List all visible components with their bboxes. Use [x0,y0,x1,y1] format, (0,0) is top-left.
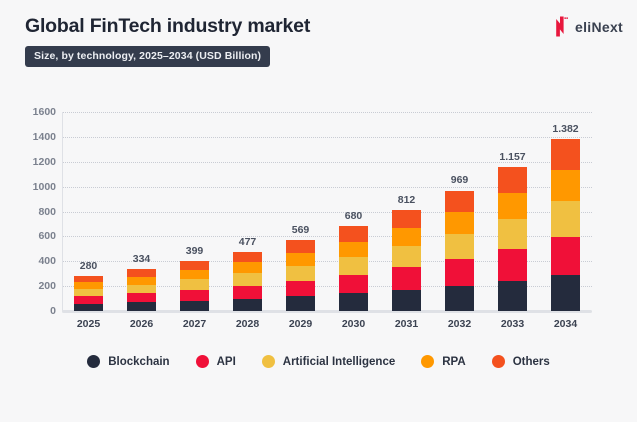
y-axis-tick-label: 1600 [8,106,56,118]
bar-stack[interactable]: 680 [339,226,368,311]
bar-segment[interactable] [551,275,580,311]
y-axis-tick-label: 1000 [8,181,56,193]
bar-segment[interactable] [127,285,156,294]
x-axis-tick-label: 2032 [448,318,471,330]
bar-segment[interactable] [127,293,156,302]
legend-swatch-icon [196,355,209,368]
legend-label: Artificial Intelligence [283,356,395,368]
x-axis-tick-label: 2031 [395,318,418,330]
bar-value-label: 280 [80,260,98,272]
bar-segment[interactable] [180,290,209,301]
legend-item[interactable]: Others [492,355,550,368]
bar-stack[interactable]: 1.157 [498,167,527,311]
y-axis-tick-label: 600 [8,230,56,242]
y-axis-tick-label: 400 [8,255,56,267]
legend-item[interactable]: Blockchain [87,355,169,368]
bar-segment[interactable] [127,269,156,277]
bar-segment[interactable] [180,301,209,311]
bar-value-label: 334 [133,253,151,265]
bar-value-label: 812 [398,194,416,206]
legend-label: Blockchain [108,356,169,368]
bar-segment[interactable] [498,219,527,249]
bar-series-container: 2803343994775696808129691.1571.382 [62,112,592,311]
chart-header: Global FinTech industry market Size, by … [25,14,619,74]
legend-swatch-icon [421,355,434,368]
legend-swatch-icon [492,355,505,368]
legend-item[interactable]: RPA [421,355,465,368]
bar-segment[interactable] [392,228,421,246]
brand-logo: eliNext [554,16,623,37]
bar-value-label: 969 [451,174,469,186]
bar-stack[interactable]: 812 [392,210,421,311]
bar-stack[interactable]: 1.382 [551,139,580,311]
bar-segment[interactable] [551,139,580,170]
x-axis-tick-label: 2033 [501,318,524,330]
bar-segment[interactable] [233,299,262,311]
bar-value-label: 569 [292,224,310,236]
legend-label: API [217,356,236,368]
bar-segment[interactable] [551,237,580,275]
y-axis-tick-label: 800 [8,206,56,218]
bar-segment[interactable] [180,279,209,289]
bar-segment[interactable] [445,234,474,259]
bar-segment[interactable] [498,193,527,219]
bar-stack[interactable]: 969 [445,190,474,311]
bar-segment[interactable] [74,289,103,296]
bar-segment[interactable] [498,281,527,311]
x-axis-tick-label: 2034 [554,318,577,330]
bar-segment[interactable] [286,281,315,297]
bar-segment[interactable] [339,257,368,275]
bar-stack[interactable]: 334 [127,269,156,311]
legend-swatch-icon [87,355,100,368]
bar-segment[interactable] [339,242,368,257]
bar-value-label: 399 [186,245,204,257]
x-axis-labels: 2025202620272028202920302031203220332034 [62,318,592,338]
bar-segment[interactable] [286,240,315,253]
bar-segment[interactable] [392,267,421,289]
chart-legend: BlockchainAPIArtificial IntelligenceRPAO… [0,355,637,368]
page-title: Global FinTech industry market [25,14,619,38]
y-axis-tick-label: 1400 [8,131,56,143]
bar-segment[interactable] [392,290,421,311]
bar-segment[interactable] [233,286,262,299]
bar-segment[interactable] [551,170,580,201]
bar-segment[interactable] [233,273,262,285]
bar-segment[interactable] [127,302,156,311]
bar-segment[interactable] [233,252,262,263]
subtitle-badge: Size, by technology, 2025–2034 (USD Bill… [25,46,270,67]
bar-segment[interactable] [127,277,156,284]
bar-segment[interactable] [286,253,315,266]
bar-segment[interactable] [498,167,527,193]
bar-segment[interactable] [445,212,474,234]
legend-item[interactable]: API [196,355,236,368]
legend-item[interactable]: Artificial Intelligence [262,355,395,368]
bar-segment[interactable] [180,261,209,270]
x-axis-tick-label: 2027 [183,318,206,330]
bar-segment[interactable] [339,226,368,241]
y-axis-tick-label: 0 [8,305,56,317]
bar-segment[interactable] [286,296,315,311]
chart-page: Global FinTech industry market Size, by … [0,0,637,422]
bar-stack[interactable]: 280 [74,276,103,311]
bar-segment[interactable] [392,246,421,267]
x-axis-tick-label: 2026 [130,318,153,330]
chart-canvas: 02004006008001000120014001600 2803343994… [0,100,637,345]
bar-value-label: 1.157 [499,151,525,163]
legend-swatch-icon [262,355,275,368]
bar-stack[interactable]: 399 [180,261,209,311]
legend-label: RPA [442,356,465,368]
bar-segment[interactable] [392,210,421,228]
x-axis-tick-label: 2030 [342,318,365,330]
y-axis-tick-label: 1200 [8,156,56,168]
bar-segment[interactable] [233,262,262,273]
bar-segment[interactable] [551,201,580,237]
bar-value-label: 680 [345,210,363,222]
bar-segment[interactable] [445,286,474,311]
y-axis: 02004006008001000120014001600 [0,112,56,311]
bar-stack[interactable]: 477 [233,252,262,311]
logo-text: eliNext [575,19,623,35]
bar-segment[interactable] [74,296,103,304]
elinext-mark-icon [554,16,569,37]
bar-value-label: 477 [239,236,257,248]
bar-segment[interactable] [286,266,315,281]
bar-segment[interactable] [445,259,474,285]
x-axis-tick-label: 2025 [77,318,100,330]
bar-stack[interactable]: 569 [286,240,315,311]
bar-segment[interactable] [74,304,103,311]
bar-segment[interactable] [180,270,209,279]
y-axis-tick-label: 200 [8,280,56,292]
bar-segment[interactable] [445,191,474,213]
legend-label: Others [513,356,550,368]
bar-value-label: 1.382 [552,123,578,135]
bar-segment[interactable] [339,293,368,311]
bar-segment[interactable] [339,275,368,294]
bar-segment[interactable] [498,249,527,281]
x-axis-tick-label: 2028 [236,318,259,330]
x-axis-tick-label: 2029 [289,318,312,330]
